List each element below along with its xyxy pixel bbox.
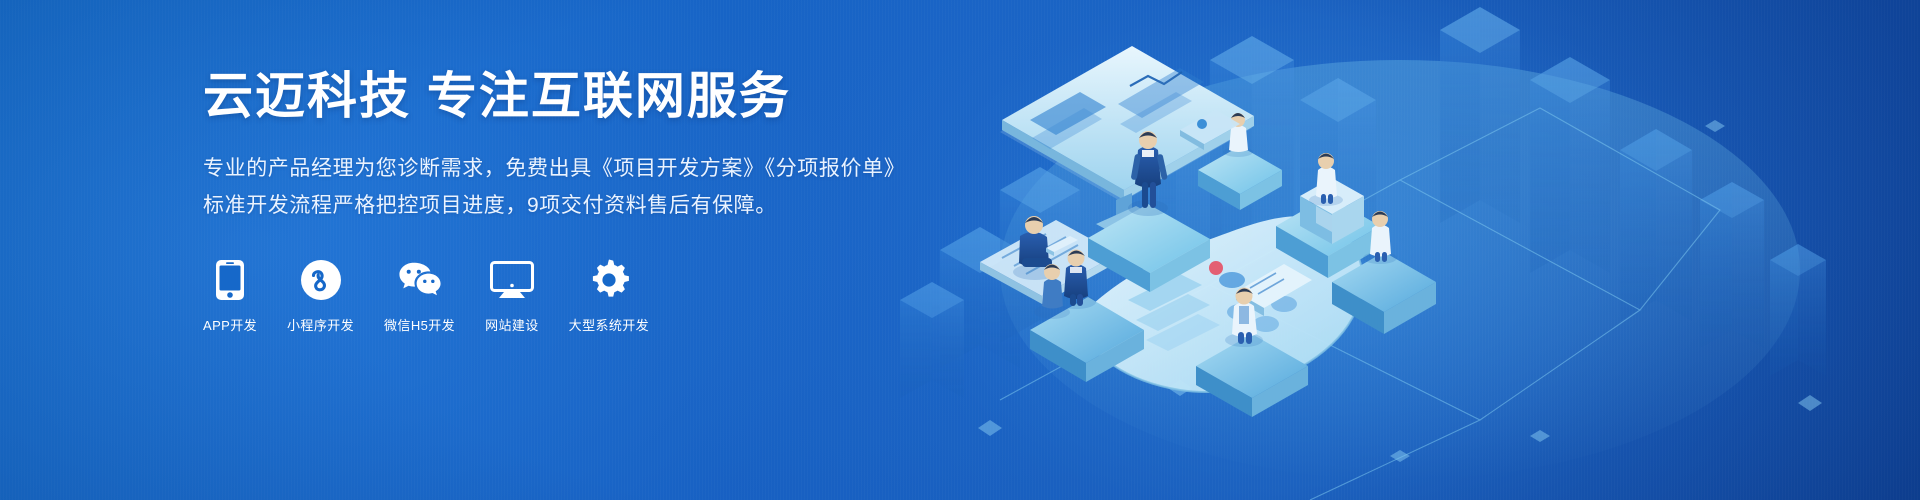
service-label: 小程序开发 xyxy=(287,315,354,334)
service-list: APP开发 小程序开发 xyxy=(203,258,963,334)
subtitle-line-1: 专业的产品经理为您诊断需求，免费出具《项目开发方案》《分项报价单》 xyxy=(203,151,963,188)
service-label: APP开发 xyxy=(203,315,257,334)
service-item-wechat-h5[interactable]: 微信H5开发 xyxy=(384,258,455,334)
service-item-large-system[interactable]: 大型系统开发 xyxy=(569,258,649,334)
service-label: 微信H5开发 xyxy=(384,315,455,334)
subtitle-line-2: 标准开发流程严格把控项目进度，9项交付资料售后有保障。 xyxy=(203,188,963,225)
illustration-isometric-scene xyxy=(880,0,1920,500)
service-item-app[interactable]: APP开发 xyxy=(203,258,257,334)
gear-icon xyxy=(587,258,631,302)
monitor-icon xyxy=(490,258,534,302)
service-label: 网站建设 xyxy=(485,315,539,334)
service-item-mini-program[interactable]: 小程序开发 xyxy=(287,258,354,334)
hero-banner: 云迈科技 专注互联网服务 专业的产品经理为您诊断需求，免费出具《项目开发方案》《… xyxy=(0,0,1920,500)
mini-program-icon xyxy=(299,258,343,302)
service-item-website[interactable]: 网站建设 xyxy=(485,258,539,334)
wechat-icon xyxy=(398,258,442,302)
mobile-phone-icon xyxy=(208,258,252,302)
service-label: 大型系统开发 xyxy=(569,315,649,334)
page-title: 云迈科技 专注互联网服务 xyxy=(203,68,963,125)
banner-content: 云迈科技 专注互联网服务 专业的产品经理为您诊断需求，免费出具《项目开发方案》《… xyxy=(203,68,963,334)
